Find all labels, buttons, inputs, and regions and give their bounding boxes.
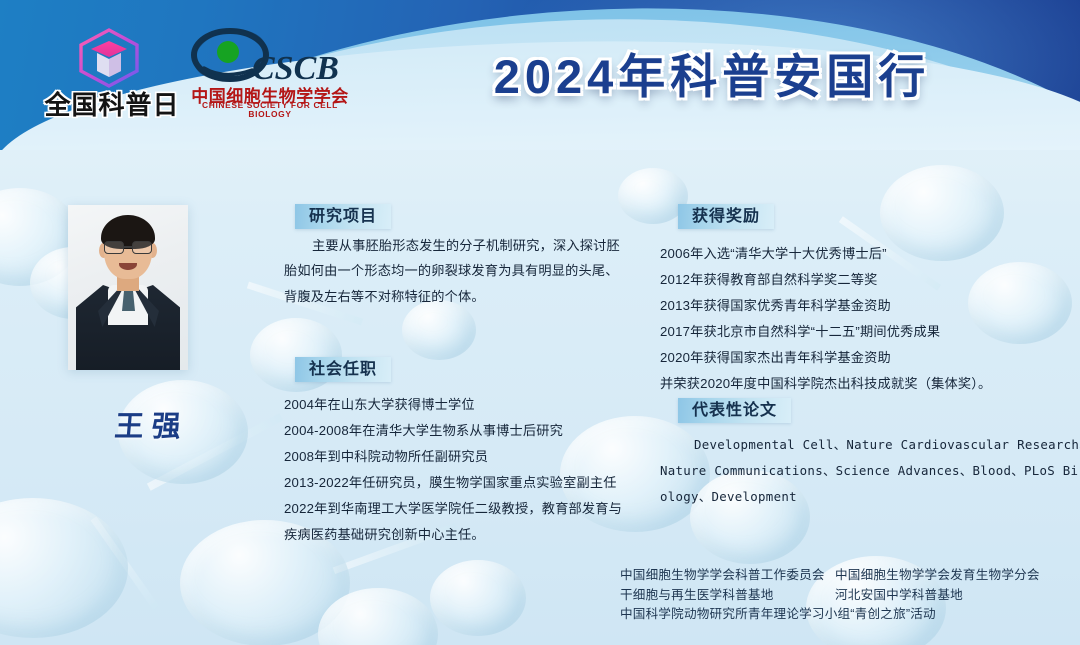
- footer-org-1: 中国细胞生物学学会科普工作委员会: [620, 566, 835, 586]
- footer-org-4: 河北安国中学科普基地: [835, 586, 1070, 606]
- person-name: 王强: [90, 403, 214, 445]
- award-line-4: 2017年获北京市自然科学“十二五”期间优秀成果: [660, 319, 940, 345]
- national-science-day-label: 全国科普日: [37, 85, 187, 122]
- award-line-1: 2006年入选“清华大学十大优秀博士后”: [660, 241, 887, 267]
- header-banner: 全国科普日 CSCB 中国细胞生物学学会 CHINESE SOCIETY FOR…: [0, 0, 1080, 150]
- position-line-5: 2022年到华南理工大学医学院任二级教授，教育部发育与: [284, 496, 622, 522]
- position-line-2: 2004-2008年在清华大学生物系从事博士后研究: [284, 418, 563, 444]
- cscb-logo: CSCB 中国细胞生物学学会 CHINESE SOCIETY FOR CELL …: [190, 28, 350, 116]
- footer-organizations: 中国细胞生物学学会科普工作委员会 中国细胞生物学学会发育生物学分会 干细胞与再生…: [620, 566, 1070, 625]
- cscb-english-name: CHINESE SOCIETY FOR CELL BIOLOGY: [186, 101, 354, 119]
- footer-row: 中国科学院动物研究所青年理论学习小组“青创之旅”活动: [620, 605, 1070, 625]
- award-line-2: 2012年获得教育部自然科学奖二等奖: [660, 267, 878, 293]
- footer-org-3: 干细胞与再生医学科普基地: [620, 586, 835, 606]
- national-science-day-logo: 全国科普日: [37, 27, 187, 110]
- research-line-2: 胎如何由一个形态均一的卵裂球发育为具有明显的头尾、: [284, 258, 619, 284]
- position-line-3: 2008年到中科院动物所任副研究员: [284, 444, 488, 470]
- position-line-1: 2004年在山东大学获得博士学位: [284, 392, 475, 418]
- footer-row: 干细胞与再生医学科普基地 河北安国中学科普基地: [620, 586, 1070, 606]
- research-line-3: 背腹及左右等不对称特征的个体。: [284, 284, 485, 310]
- section-badge-research: 研究项目: [295, 204, 391, 229]
- section-badge-positions: 社会任职: [295, 357, 391, 382]
- publication-line-1: Developmental Cell、Nature Cardiovascular…: [660, 432, 1080, 458]
- award-line-5: 2020年获得国家杰出青年科学基金资助: [660, 345, 891, 371]
- section-badge-publications: 代表性论文: [678, 398, 791, 423]
- award-line-3: 2013年获得国家优秀青年科学基金资助: [660, 293, 891, 319]
- publication-line-3: ology、Development: [660, 484, 797, 510]
- research-line-1: 主要从事胚胎形态发生的分子机制研究，深入探讨胚: [284, 233, 620, 259]
- footer-row: 中国细胞生物学学会科普工作委员会 中国细胞生物学学会发育生物学分会: [620, 566, 1070, 586]
- graduation-cap-hexagon-icon: [75, 27, 143, 89]
- publication-line-2: Nature Communications、Science Advances、B…: [660, 458, 1080, 484]
- avatar: [68, 205, 188, 370]
- footer-org-5: 中国科学院动物研究所青年理论学习小组“青创之旅”活动: [620, 605, 936, 625]
- section-badge-awards: 获得奖励: [678, 204, 774, 229]
- poster-canvas: 全国科普日 CSCB 中国细胞生物学学会 CHINESE SOCIETY FOR…: [0, 0, 1080, 645]
- award-line-6: 并荣获2020年度中国科学院杰出科技成就奖（集体奖）。: [660, 371, 991, 397]
- position-line-4: 2013-2022年任研究员，膜生物学国家重点实验室副主任: [284, 470, 617, 496]
- position-line-6: 疾病医药基础研究创新中心主任。: [284, 522, 485, 548]
- footer-org-2: 中国细胞生物学学会发育生物学分会: [835, 566, 1070, 586]
- page-title: 2024年科普安国行: [452, 44, 972, 110]
